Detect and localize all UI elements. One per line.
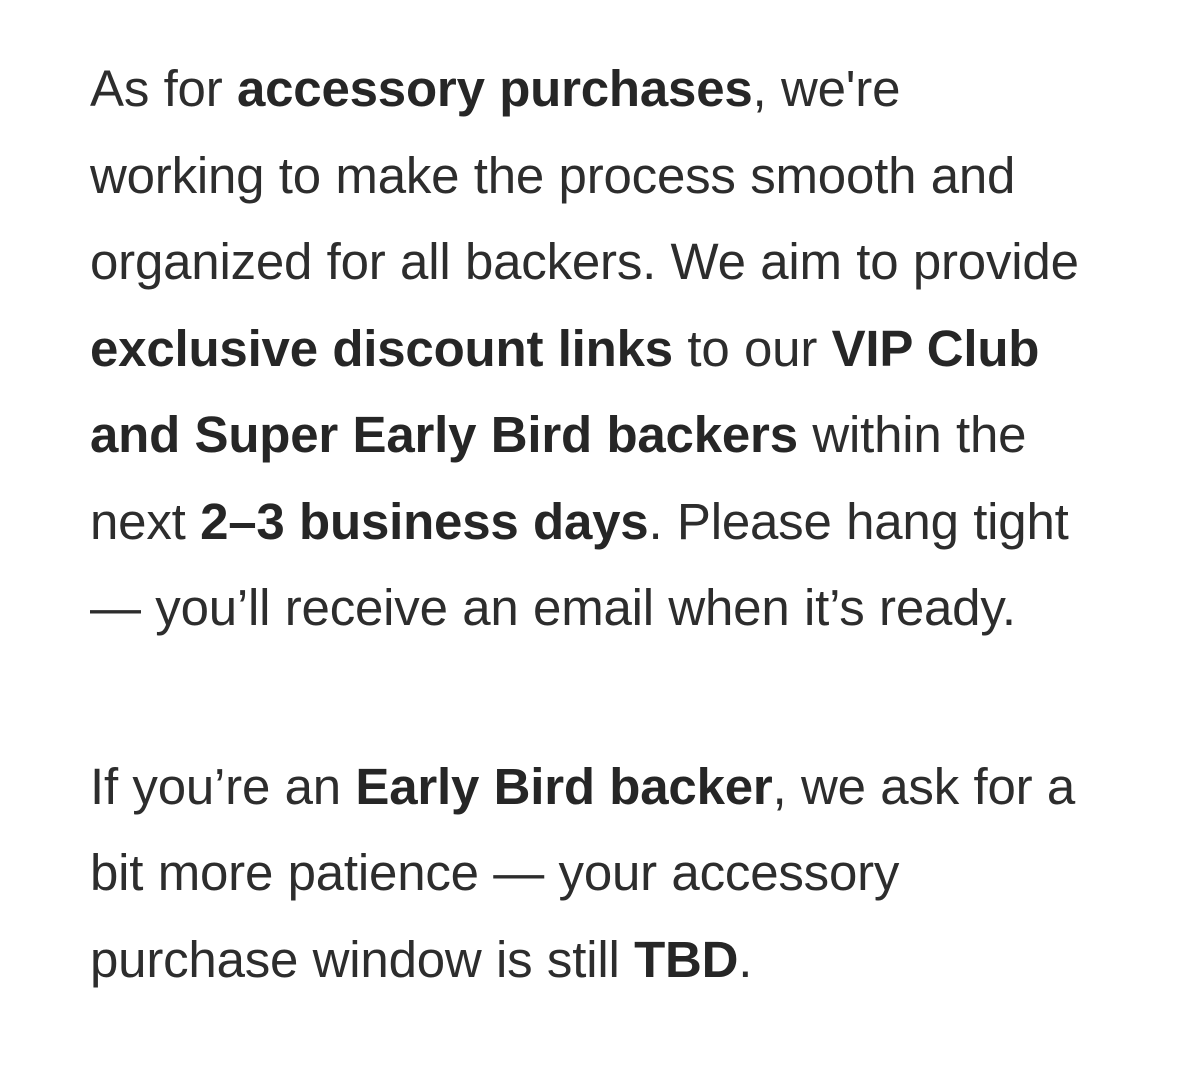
text-run-bold: 2–3 business days [200,493,648,550]
paragraph-accessory-purchases: As for accessory purchases, we're workin… [90,46,1085,652]
text-run-bold: TBD [634,931,738,988]
text-run-bold: Early Bird backer [355,758,772,815]
text-run-bold: accessory purchases [237,60,753,117]
text-run-regular: If you’re an [90,758,355,815]
page-root: As for accessory purchases, we're workin… [0,0,1179,1071]
paragraph-early-bird-backer: If you’re an Early Bird backer, we ask f… [90,744,1085,1004]
text-run-regular: . [738,931,752,988]
article-body: As for accessory purchases, we're workin… [90,46,1085,1003]
text-run-regular: As for [90,60,237,117]
text-run-regular: to our [673,320,832,377]
text-run-bold: exclusive discount links [90,320,673,377]
